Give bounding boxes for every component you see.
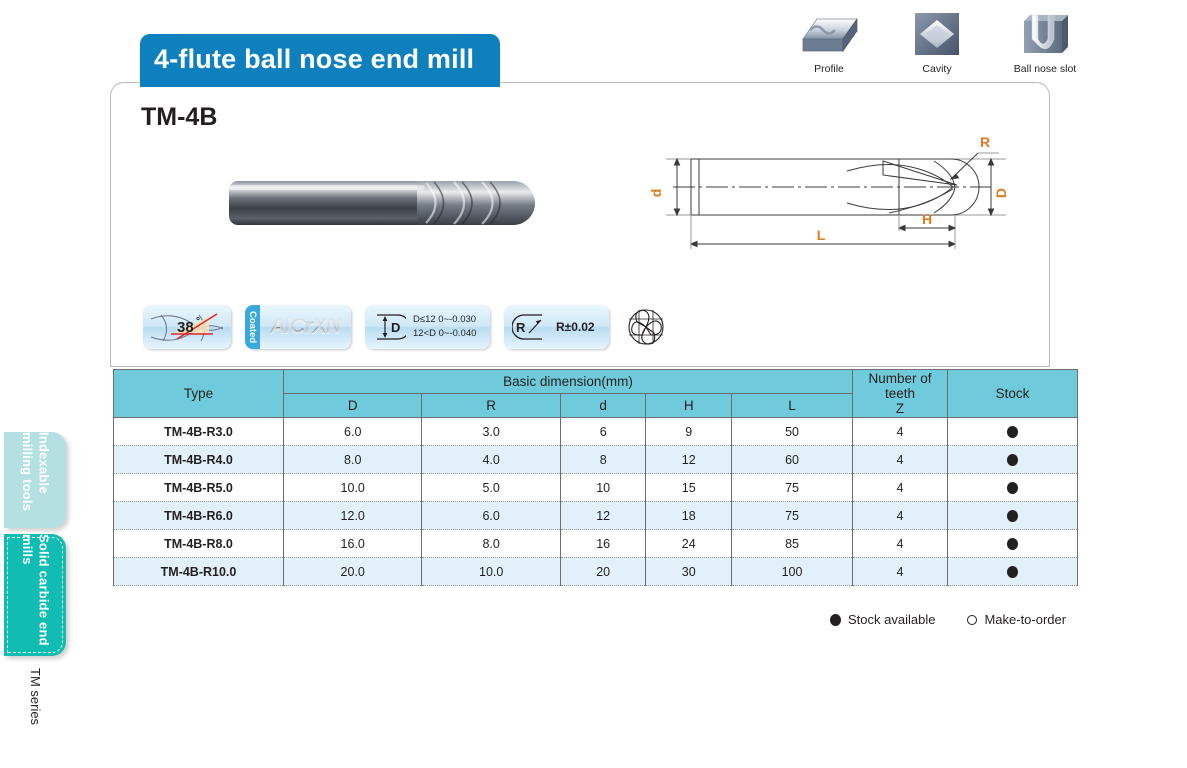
ball-nose-slot-icon <box>1013 8 1077 60</box>
cell-type: TM-4B-R6.0 <box>114 502 284 530</box>
cell-stock <box>948 418 1078 446</box>
stock-available-icon <box>1007 482 1018 494</box>
cell-R: 4.0 <box>422 446 560 474</box>
cell-type: TM-4B-R3.0 <box>114 418 284 446</box>
cell-teeth: 4 <box>853 418 948 446</box>
cell-d: 16 <box>560 530 646 558</box>
header-sub-R: R <box>422 394 560 418</box>
helix-angle-value: 38 <box>177 319 194 336</box>
cell-type: TM-4B-R8.0 <box>114 530 284 558</box>
cell-D: 20.0 <box>284 558 422 586</box>
header-basic-dimension: Basic dimension(mm) <box>284 370 853 394</box>
diameter-symbol: D <box>391 320 400 335</box>
helix-angle-badge: 38 ° <box>143 305 231 349</box>
table-head: Type Basic dimension(mm) Number of teeth… <box>114 370 1078 418</box>
d-tolerance-line-1: D≤12 0~-0.030 <box>413 313 476 327</box>
cell-L: 60 <box>732 446 853 474</box>
spec-badges: 38 ° Coated AlCrXN D D≤12 0~-0.030 12<D … <box>143 305 669 349</box>
cell-d: 10 <box>560 474 646 502</box>
table-row: TM-4B-R5.010.05.01015754 <box>114 474 1078 502</box>
radius-tolerance-badge: R R±0.02 <box>504 305 609 349</box>
coated-label: Coated <box>245 305 260 349</box>
coating-badge: Coated AlCrXN <box>245 305 351 349</box>
cell-teeth: 4 <box>853 558 948 586</box>
cell-D: 12.0 <box>284 502 422 530</box>
cell-R: 10.0 <box>422 558 560 586</box>
sidebar-tab-solid-carbide-end-mills[interactable]: Solid carbide end mills <box>4 534 66 656</box>
stock-available-icon <box>1007 510 1018 522</box>
cell-teeth: 4 <box>853 446 948 474</box>
radius-symbol: R <box>516 320 526 335</box>
table-row: TM-4B-R6.012.06.01218754 <box>114 502 1078 530</box>
cell-L: 75 <box>732 474 853 502</box>
stock-available-icon <box>1007 538 1018 550</box>
application-label: Ball nose slot <box>1013 63 1077 75</box>
cell-stock <box>948 446 1078 474</box>
cell-R: 8.0 <box>422 530 560 558</box>
application-ball-nose-slot: Ball nose slot <box>1013 8 1077 75</box>
cell-stock <box>948 530 1078 558</box>
cell-L: 75 <box>732 502 853 530</box>
header-teeth-line-2: teeth <box>854 386 946 401</box>
cell-R: 5.0 <box>422 474 560 502</box>
cell-d: 20 <box>560 558 646 586</box>
cell-teeth: 4 <box>853 502 948 530</box>
sidebar-tab-indexable-milling-tools[interactable]: Indexable milling tools <box>4 432 66 528</box>
make-to-order-label: Make-to-order <box>984 612 1066 627</box>
header-sub-d: d <box>560 394 646 418</box>
cell-D: 6.0 <box>284 418 422 446</box>
sidebar-tab-label: Solid carbide end mills <box>19 534 52 656</box>
cell-H: 24 <box>646 530 732 558</box>
table-row: TM-4B-R4.08.04.0812604 <box>114 446 1078 474</box>
four-flute-end-view-icon <box>623 305 669 349</box>
cell-D: 8.0 <box>284 446 422 474</box>
drawing-label-D: D <box>993 188 1009 198</box>
cell-teeth: 4 <box>853 474 948 502</box>
cell-H: 15 <box>646 474 732 502</box>
cell-H: 9 <box>646 418 732 446</box>
header-sub-H: H <box>646 394 732 418</box>
cell-type: TM-4B-R4.0 <box>114 446 284 474</box>
cell-L: 100 <box>732 558 853 586</box>
cell-L: 85 <box>732 530 853 558</box>
cell-D: 16.0 <box>284 530 422 558</box>
specification-table: Type Basic dimension(mm) Number of teeth… <box>113 369 1078 586</box>
table-header-row-1: Type Basic dimension(mm) Number of teeth… <box>114 370 1078 394</box>
profile-icon <box>797 8 861 60</box>
header-teeth-line-3: Z <box>854 401 946 416</box>
cell-H: 18 <box>646 502 732 530</box>
model-code: TM-4B <box>141 103 217 132</box>
drawing-label-R: R <box>980 134 990 150</box>
stock-available-icon <box>1007 426 1018 438</box>
header-sub-D: D <box>284 394 422 418</box>
table-row: TM-4B-R10.020.010.020301004 <box>114 558 1078 586</box>
application-profile: Profile <box>797 8 861 75</box>
cavity-icon <box>905 8 969 60</box>
coating-name: AlCrXN <box>260 315 351 339</box>
drawing-label-H: H <box>922 211 932 227</box>
cell-d: 8 <box>560 446 646 474</box>
cell-stock <box>948 474 1078 502</box>
cell-d: 12 <box>560 502 646 530</box>
sidebar-tab-label: Indexable milling tools <box>19 432 52 528</box>
drawing-label-L: L <box>817 227 826 243</box>
r-tolerance-value: R±0.02 <box>556 320 595 334</box>
application-label: Profile <box>797 63 861 75</box>
application-cavity: Cavity <box>905 8 969 75</box>
header-teeth-line-1: Number of <box>854 371 946 386</box>
header-sub-L: L <box>732 394 853 418</box>
product-card: TM-4B <box>110 82 1050 367</box>
helix-angle-unit: ° <box>196 316 200 327</box>
cell-type: TM-4B-R10.0 <box>114 558 284 586</box>
cell-H: 30 <box>646 558 732 586</box>
table-body: TM-4B-R3.06.03.069504TM-4B-R4.08.04.0812… <box>114 418 1078 586</box>
stock-available-label: Stock available <box>848 612 935 627</box>
cell-stock <box>948 502 1078 530</box>
end-mill-photo <box>221 161 551 241</box>
stock-available-icon <box>1007 454 1018 466</box>
diameter-tolerance-badge: D D≤12 0~-0.030 12<D 0~-0.040 <box>365 305 490 349</box>
cell-stock <box>948 558 1078 586</box>
stock-available-icon <box>830 614 841 626</box>
table-row: TM-4B-R8.016.08.01624854 <box>114 530 1078 558</box>
cell-R: 6.0 <box>422 502 560 530</box>
page-title: 4-flute ball nose end mill <box>140 34 500 87</box>
application-label: Cavity <box>905 63 969 75</box>
cell-L: 50 <box>732 418 853 446</box>
cell-R: 3.0 <box>422 418 560 446</box>
cell-teeth: 4 <box>853 530 948 558</box>
application-icons: Profile Cavity <box>797 8 1077 75</box>
cell-H: 12 <box>646 446 732 474</box>
header-type: Type <box>114 370 284 418</box>
cell-D: 10.0 <box>284 474 422 502</box>
stock-available-icon <box>1007 566 1018 578</box>
drawing-label-d: d <box>651 189 664 198</box>
dimension-drawing: d D L H R <box>651 131 1021 266</box>
header-stock: Stock <box>948 370 1078 418</box>
cell-d: 6 <box>560 418 646 446</box>
cell-type: TM-4B-R5.0 <box>114 474 284 502</box>
table-row: TM-4B-R3.06.03.069504 <box>114 418 1078 446</box>
stock-legend: Stock available Make-to-order <box>830 612 1066 627</box>
series-label: TM series <box>28 668 43 725</box>
make-to-order-icon <box>967 615 977 625</box>
header-number-of-teeth: Number of teeth Z <box>853 370 948 418</box>
sidebar-tabs: Indexable milling tools Solid carbide en… <box>0 432 96 656</box>
d-tolerance-line-2: 12<D 0~-0.040 <box>413 327 476 341</box>
